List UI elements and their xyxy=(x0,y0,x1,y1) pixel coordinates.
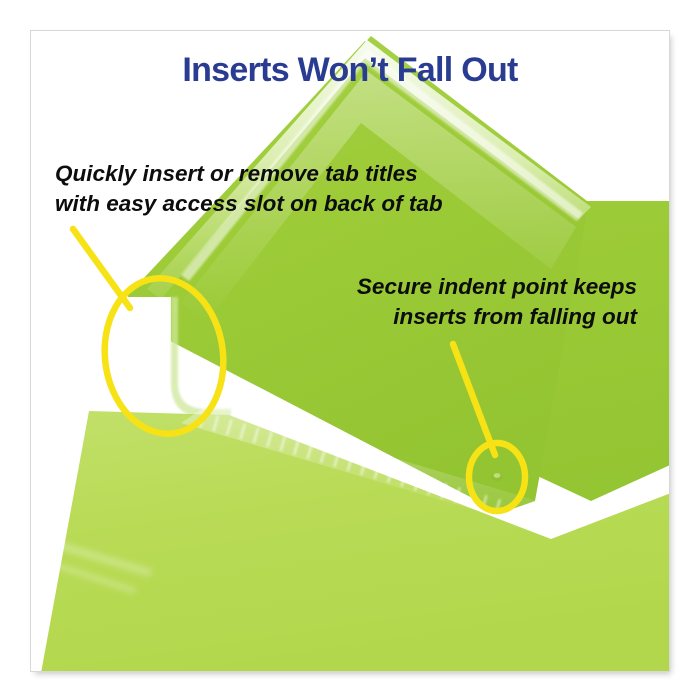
callout-right-line-1: Secure indent point keeps xyxy=(357,272,637,302)
page-title: Inserts Won’t Fall Out xyxy=(31,51,669,90)
indent-point xyxy=(492,473,503,481)
callout-right-line-2: inserts from falling out xyxy=(357,302,637,332)
product-photo xyxy=(31,31,670,672)
image-frame: Inserts Won’t Fall Out Quickly insert or… xyxy=(30,30,670,672)
callout-left-line-2: with easy access slot on back of tab xyxy=(55,189,443,219)
screenshot-canvas: Inserts Won’t Fall Out Quickly insert or… xyxy=(0,0,700,700)
callout-left-line-1: Quickly insert or remove tab titles xyxy=(55,159,443,189)
callout-right: Secure indent point keeps inserts from f… xyxy=(357,272,637,332)
callout-left: Quickly insert or remove tab titles with… xyxy=(55,159,443,219)
